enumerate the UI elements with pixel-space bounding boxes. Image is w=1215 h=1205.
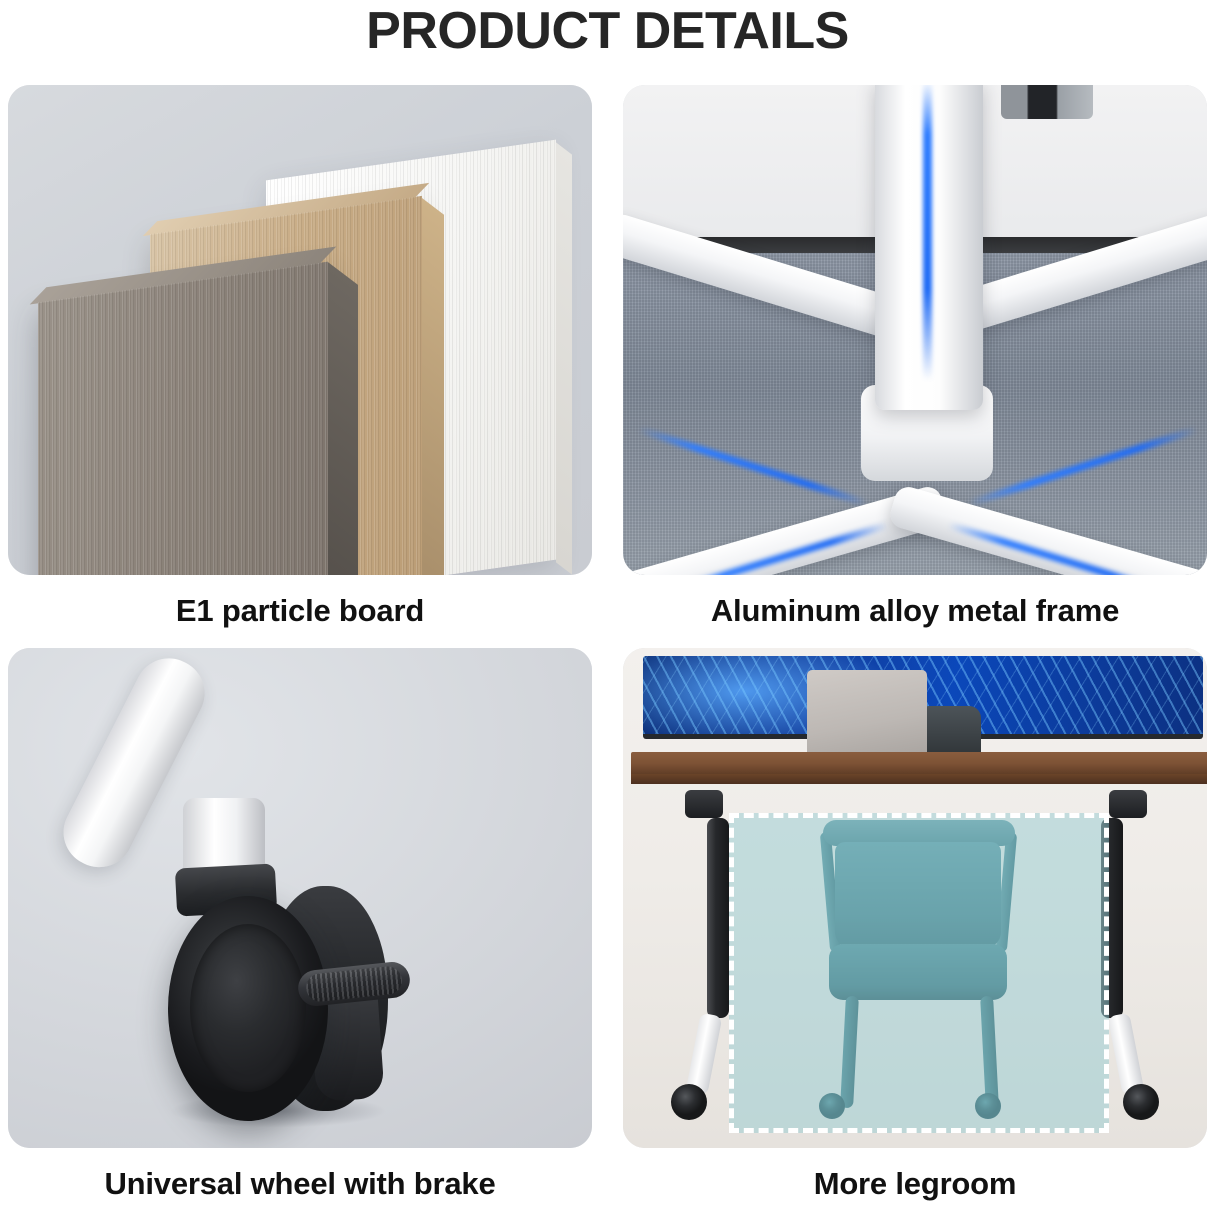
legroom-highlight-area	[729, 813, 1109, 1133]
desk-top-surface	[631, 752, 1207, 776]
caption-aluminum-frame: Aluminum alloy metal frame	[623, 591, 1207, 631]
desk-bracket-left	[685, 790, 723, 818]
panel-particle-board-image	[8, 85, 592, 575]
laptop-icon	[807, 670, 927, 756]
desk-edge	[631, 774, 1207, 784]
feature-cell-aluminum-frame: Aluminum alloy metal frame	[623, 85, 1207, 631]
page-title: PRODUCT DETAILS	[0, 0, 1215, 70]
desk-bracket-right	[1109, 790, 1147, 818]
product-details-grid: E1 particle board Aluminum alloy metal f…	[8, 85, 1207, 1200]
feature-cell-more-legroom: More legroom	[623, 648, 1207, 1204]
desk-clamp-icon	[1001, 85, 1093, 119]
caster-wheel-icon	[168, 896, 328, 1121]
column-glow-line	[923, 85, 932, 380]
panel-aluminum-frame-image	[623, 85, 1207, 575]
gray-board-grain	[38, 262, 328, 575]
caption-particle-board: E1 particle board	[8, 591, 592, 631]
desk-caster-left	[671, 1084, 707, 1120]
caster-wheel-hub	[190, 924, 306, 1092]
panel-universal-wheel-image	[8, 648, 592, 1148]
chair-headrest	[923, 706, 981, 758]
oak-board-edge	[422, 198, 444, 575]
frame-center-column	[875, 85, 983, 410]
desk-leg-left	[707, 818, 729, 1018]
white-board-edge	[556, 142, 572, 574]
feature-cell-particle-board: E1 particle board	[8, 85, 592, 631]
caption-more-legroom: More legroom	[623, 1164, 1207, 1204]
feature-cell-universal-wheel: Universal wheel with brake	[8, 648, 592, 1204]
panel-more-legroom-image	[623, 648, 1207, 1148]
desk-caster-right	[1123, 1084, 1159, 1120]
gray-board-edge	[328, 262, 358, 575]
gray-board-icon	[38, 262, 328, 575]
caption-universal-wheel: Universal wheel with brake	[8, 1164, 592, 1204]
